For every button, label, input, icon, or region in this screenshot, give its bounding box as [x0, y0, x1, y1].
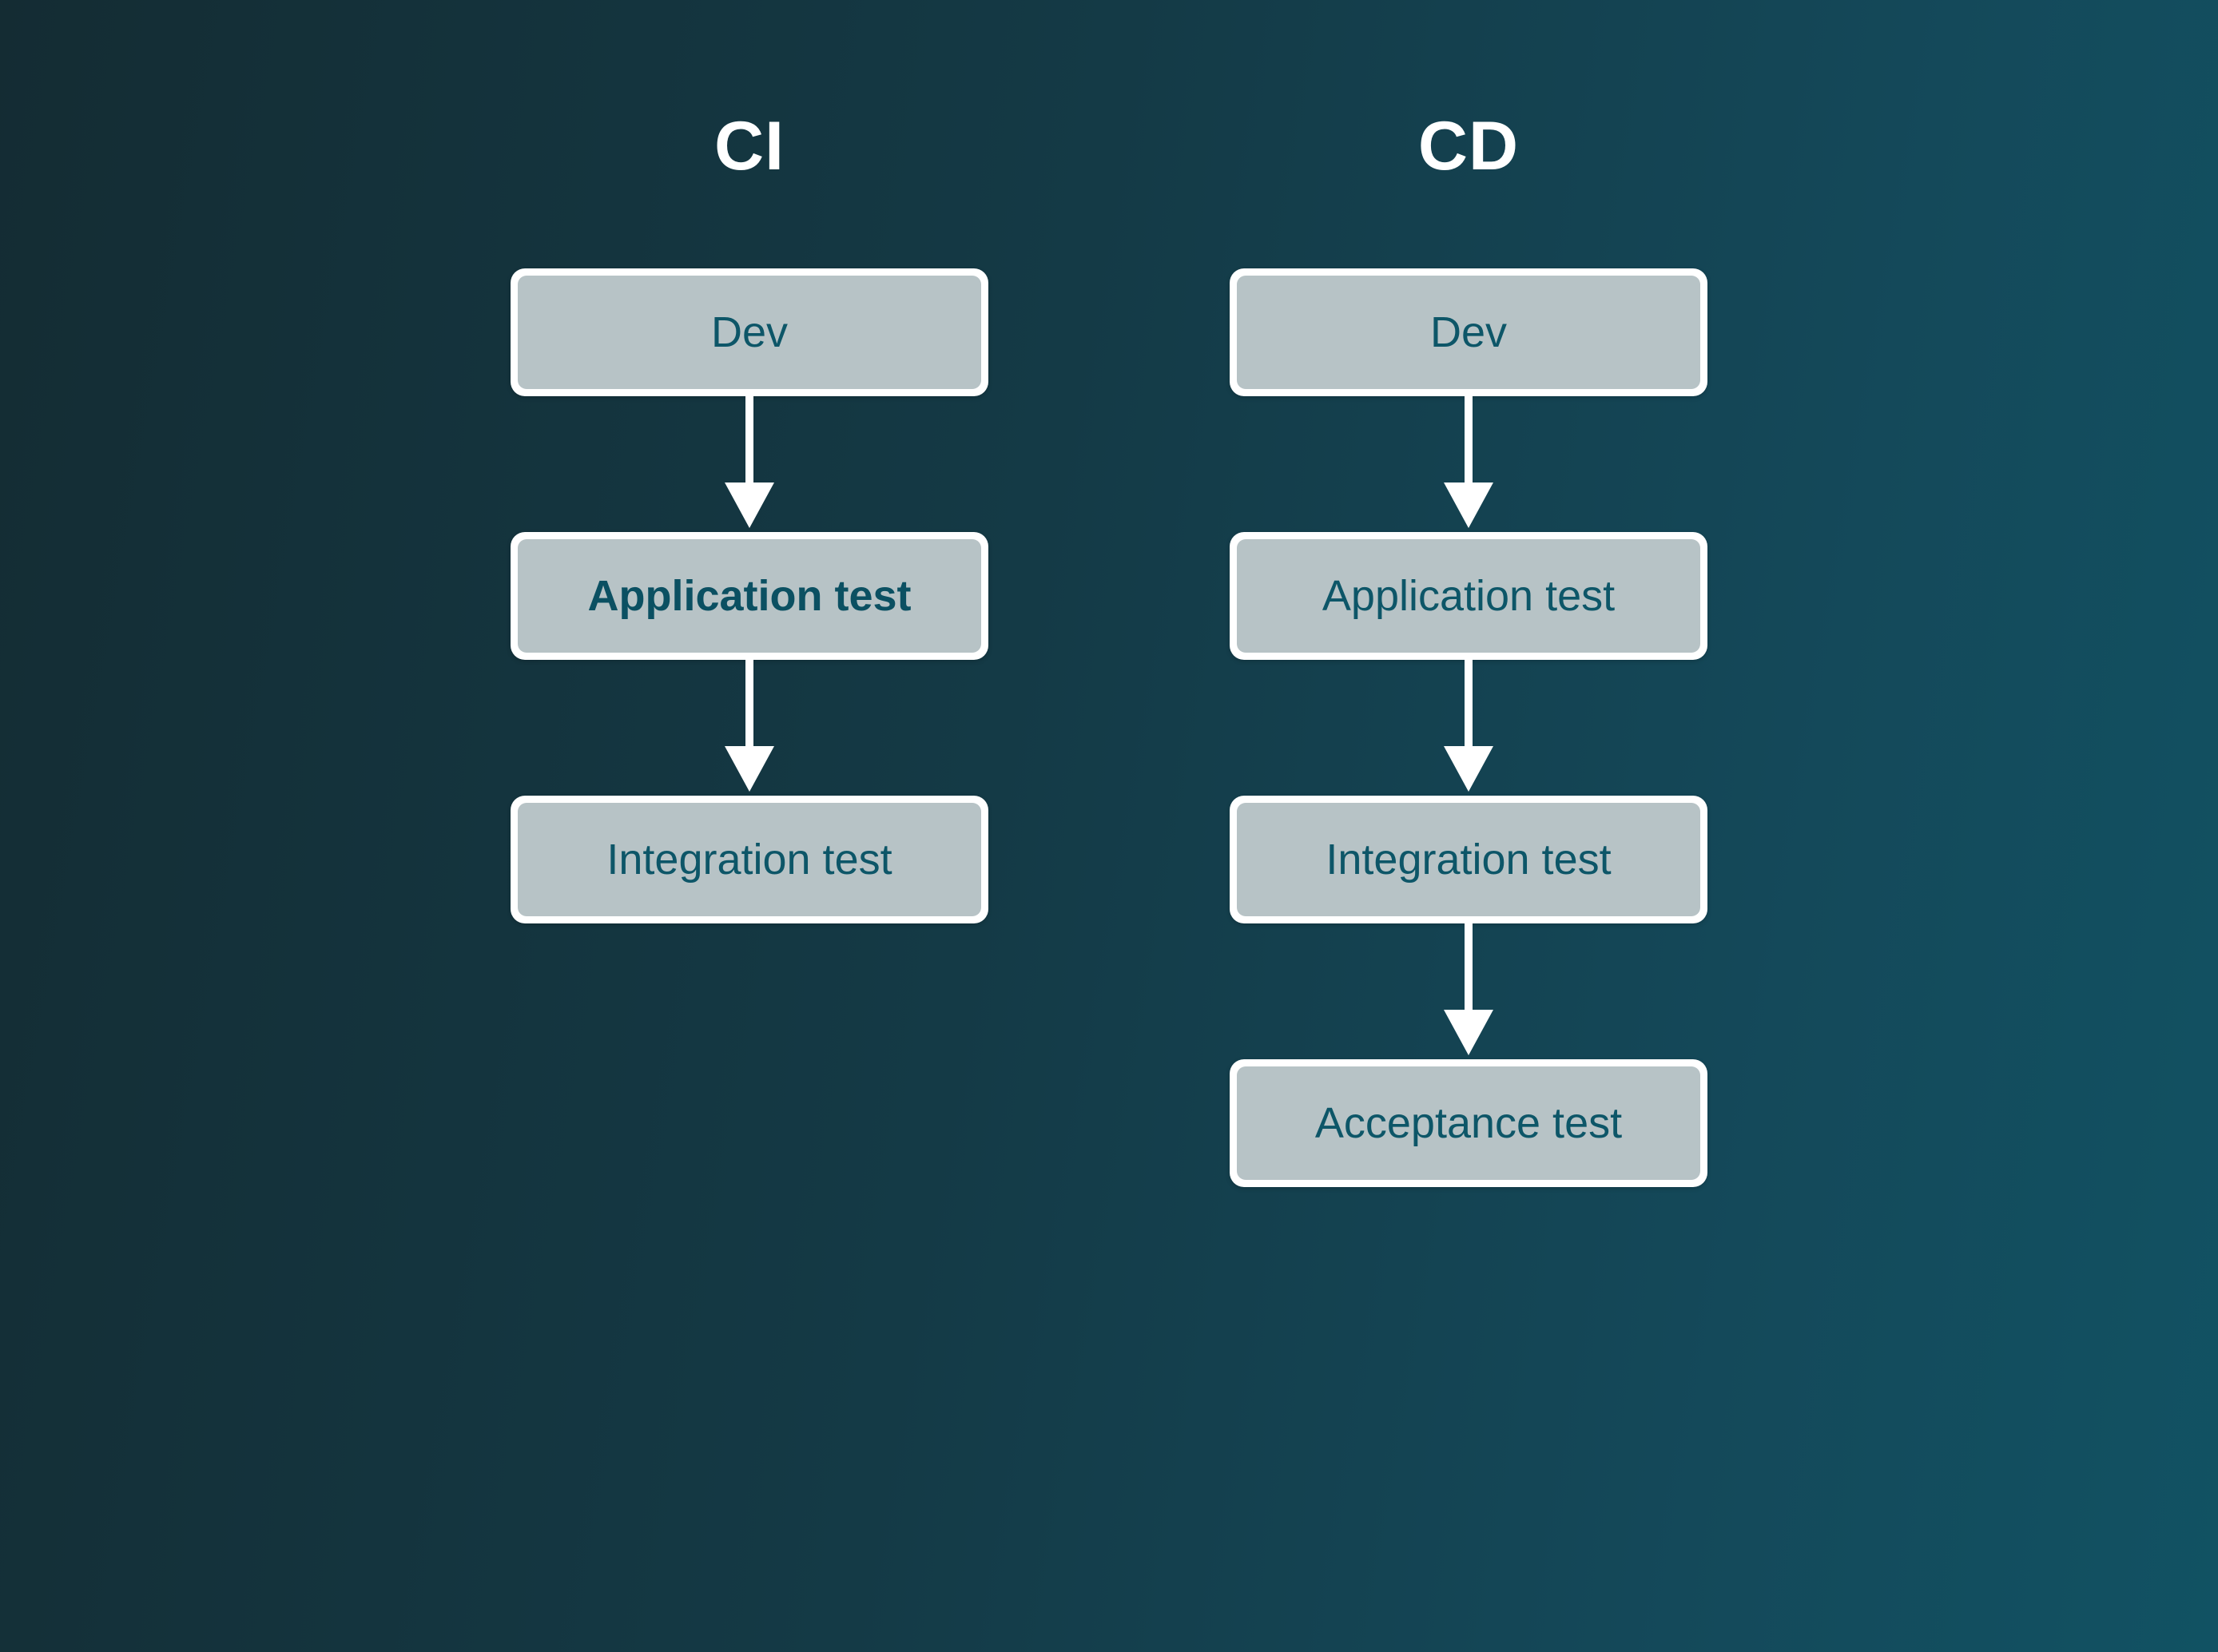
- node-ci-integration-test-label: Integration test: [606, 838, 892, 881]
- column-cd: CD Dev Application test Integration test: [1109, 0, 1828, 1187]
- node-ci-dev-body: Dev: [518, 276, 981, 389]
- node-cd-application-test-label: Application test: [1322, 574, 1615, 618]
- node-ci-application-test-label: Application test: [587, 574, 911, 618]
- node-ci-application-test[interactable]: Application test: [511, 532, 988, 660]
- column-title-cd: CD: [1418, 112, 1519, 181]
- node-cd-application-test-body: Application test: [1237, 539, 1700, 653]
- node-cd-acceptance-test-body: Acceptance test: [1237, 1066, 1700, 1180]
- node-ci-integration-test-body: Integration test: [518, 803, 981, 916]
- node-cd-acceptance-test[interactable]: Acceptance test: [1230, 1059, 1707, 1187]
- node-ci-integration-test[interactable]: Integration test: [511, 796, 988, 923]
- arrow-down-icon: [1433, 923, 1505, 1059]
- node-cd-integration-test-label: Integration test: [1326, 838, 1611, 881]
- arrow-down-icon: [713, 396, 785, 532]
- node-ci-dev-label: Dev: [711, 311, 788, 354]
- node-ci-application-test-body: Application test: [518, 539, 981, 653]
- node-cd-application-test[interactable]: Application test: [1230, 532, 1707, 660]
- node-cd-dev[interactable]: Dev: [1230, 268, 1707, 396]
- arrow-down-icon: [1433, 660, 1505, 796]
- arrow-down-icon: [713, 660, 785, 796]
- node-cd-integration-test[interactable]: Integration test: [1230, 796, 1707, 923]
- column-ci: CI Dev Application test Integration test: [390, 0, 1109, 923]
- node-ci-dev[interactable]: Dev: [511, 268, 988, 396]
- node-cd-acceptance-test-label: Acceptance test: [1315, 1102, 1622, 1145]
- pipeline-diagram: CI Dev Application test Integration test…: [0, 0, 2218, 1652]
- node-cd-dev-body: Dev: [1237, 276, 1700, 389]
- arrow-down-icon: [1433, 396, 1505, 532]
- column-title-ci: CI: [714, 112, 785, 181]
- node-cd-dev-label: Dev: [1430, 311, 1507, 354]
- node-cd-integration-test-body: Integration test: [1237, 803, 1700, 916]
